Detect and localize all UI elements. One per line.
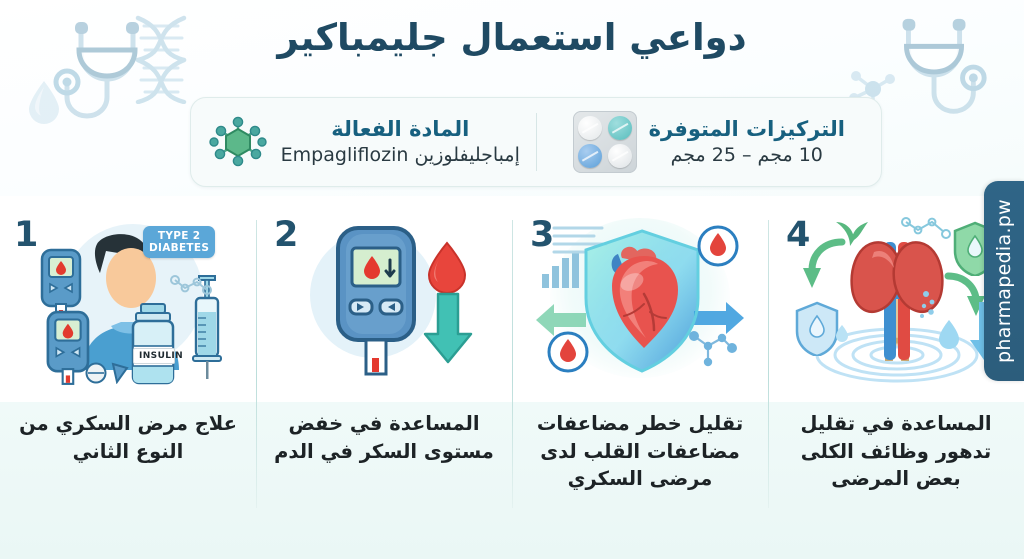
active-ingredient-value-ar: إمباجليفلوزين [414, 144, 519, 166]
card-divider [536, 113, 537, 171]
type2-tag-line2: DIABETES [149, 242, 209, 254]
page-title: دواعي استعمال جليمباكير [0, 16, 1024, 59]
type2-diabetes-illustration: TYPE 2 DIABETES [0, 210, 256, 390]
type2-tag-line1: TYPE 2 [158, 230, 200, 242]
infographic-canvas: دواعي استعمال جليمباكير التركيزات المتوف… [0, 0, 1024, 559]
panel-caption-2: المساعدة في خفض مستوى السكر في الدم [266, 410, 502, 465]
glucometer-icon [324, 224, 428, 384]
blood-drop-icon [424, 240, 470, 294]
strengths-label: التركيزات المتوفرة [649, 117, 845, 142]
active-ingredient-label: المادة الفعالة [281, 117, 520, 142]
watermark-text: pharmapedia.pw [993, 199, 1015, 363]
active-ingredient-section: المادة الفعالة إمباجليفلوزين Empaglifloz… [191, 98, 536, 186]
insulin-vial-icon [125, 302, 183, 386]
blood-drop-badge-icon [546, 330, 590, 374]
down-arrow-icon [422, 292, 474, 366]
molecule-icon [167, 270, 213, 310]
watermark-tab[interactable]: pharmapedia.pw [984, 181, 1024, 381]
heart-shield-illustration [512, 210, 768, 390]
panel-caption-4: المساعدة في تقليل تدهور وظائف الكلى بعض … [778, 410, 1014, 493]
strengths-section: التركيزات المتوفرة 10 مجم – 25 مجم [537, 98, 882, 186]
pills-icon [85, 362, 131, 384]
heart-organ-icon [592, 242, 696, 358]
type2-diabetes-tag: TYPE 2 DIABETES [143, 226, 215, 258]
molecule-icon [900, 214, 954, 248]
active-ingredient-texts: المادة الفعالة إمباجليفلوزين Empaglifloz… [281, 117, 520, 167]
benefit-panel-3[interactable]: 3 [512, 196, 768, 559]
benefit-panel-2[interactable]: 2 [256, 196, 512, 559]
benefit-panel-1[interactable]: 1 TYPE 2 DIABETES [0, 196, 256, 559]
strengths-value: 10 مجم – 25 مجم [649, 143, 845, 168]
panel-caption-1: علاج مرض السكري من النوع الثاني [10, 410, 246, 465]
pill-blister-icon [573, 111, 637, 173]
blood-drop-badge-icon [696, 224, 740, 268]
active-ingredient-value: إمباجليفلوزين Empagliflozin [281, 143, 520, 168]
insulin-label: INSULIN [133, 348, 175, 364]
benefits-panels: 1 TYPE 2 DIABETES [0, 196, 1024, 559]
panel-caption-3: تقليل خطر مضاعفات مضاعفات القلب لدى مرضى… [522, 410, 758, 493]
glucometer-lowering-illustration [256, 210, 512, 390]
molecule-icon [684, 324, 740, 370]
water-drop-icon [24, 78, 64, 126]
leaf-icon [834, 216, 868, 248]
drug-info-card: التركيزات المتوفرة 10 مجم – 25 مجم الماد… [190, 97, 882, 187]
molecule-icon [207, 111, 269, 173]
water-drop-icon [936, 318, 962, 350]
strengths-texts: التركيزات المتوفرة 10 مجم – 25 مجم [649, 117, 845, 167]
page-title-wrapper: دواعي استعمال جليمباكير [0, 16, 1024, 59]
water-drop-icon [834, 324, 850, 342]
active-ingredient-value-en: Empagliflozin [281, 144, 409, 166]
